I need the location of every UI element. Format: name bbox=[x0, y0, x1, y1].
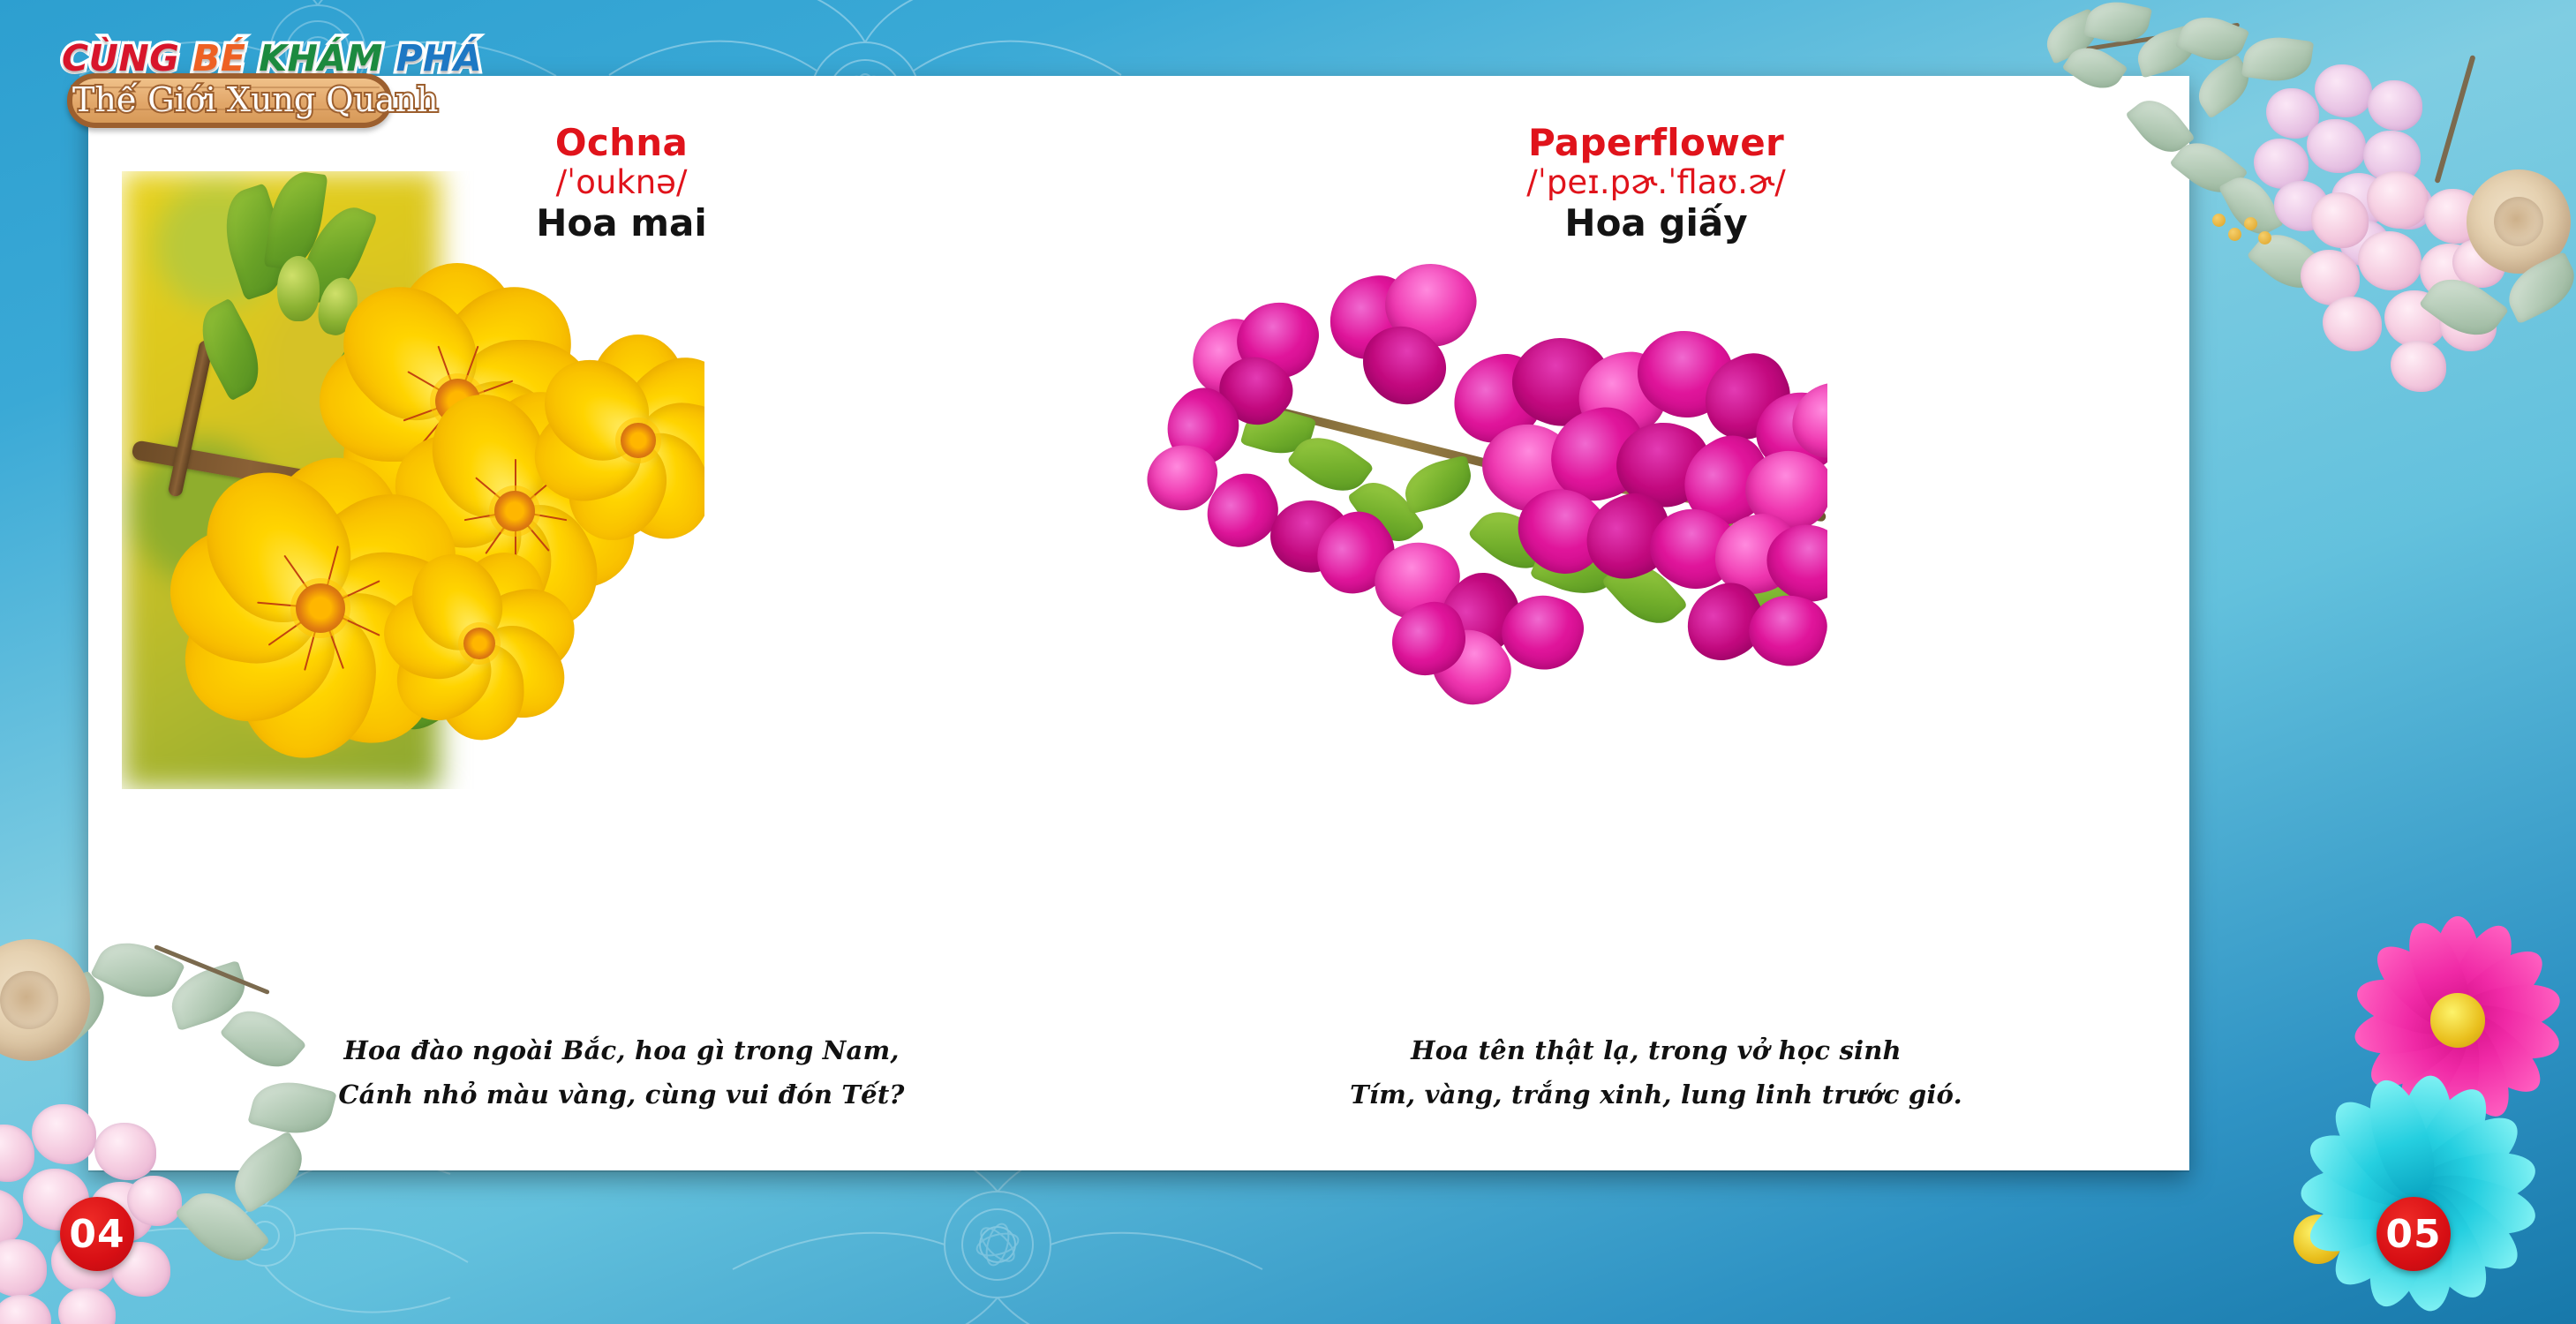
brand-word-cung: CÙNG bbox=[62, 41, 179, 77]
brand-word-pha: PHÁ bbox=[396, 41, 483, 77]
brand-logo: CÙNG BÉ KHÁM PHÁ Thế Giới Xung Quanh bbox=[62, 41, 433, 128]
flashcard-page: Ochna /ˈouknə/ Hoa mai bbox=[0, 0, 2576, 1324]
page-number-right: 05 bbox=[2376, 1197, 2451, 1271]
cream-rose bbox=[0, 939, 90, 1061]
photo-ochna bbox=[122, 171, 704, 789]
leaf bbox=[2083, 0, 2152, 49]
daisy-cyan bbox=[2301, 1075, 2537, 1312]
leaf bbox=[2132, 24, 2200, 78]
word-ipa-paperflower: /ˈpeɪ.pɚ.ˈflaʊ.ɚ/ bbox=[1139, 162, 2173, 202]
ochna-blossom bbox=[387, 551, 572, 736]
riddle-line-2: Tím, vàng, trắng xinh, lung linh trước g… bbox=[1139, 1072, 2173, 1117]
leaf bbox=[2039, 8, 2105, 64]
brand-title-line-2: Thế Giới Xung Quanh bbox=[72, 80, 387, 119]
content-card: Ochna /ˈouknə/ Hoa mai bbox=[88, 76, 2189, 1170]
berry bbox=[2228, 228, 2241, 241]
word-vietnamese-paperflower: Hoa giấy bbox=[1139, 202, 2173, 244]
flower-bud bbox=[277, 256, 320, 321]
berry bbox=[2212, 214, 2226, 227]
riddle-line-1: Hoa tên thật lạ, trong vở học sinh bbox=[1139, 1028, 2173, 1073]
riddle-paperflower: Hoa tên thật lạ, trong vở học sinh Tím, … bbox=[1139, 1028, 2173, 1118]
content-card-inner: Ochna /ˈouknə/ Hoa mai bbox=[104, 92, 2173, 1155]
twig bbox=[2434, 55, 2475, 184]
twig bbox=[2056, 23, 2240, 56]
brand-title-line-1: CÙNG BÉ KHÁM PHÁ bbox=[62, 41, 433, 77]
cream-rose bbox=[2467, 169, 2571, 274]
leaf bbox=[2499, 252, 2576, 325]
leaf bbox=[2247, 221, 2331, 301]
word-block-paperflower: Paperflower /ˈpeɪ.pɚ.ˈflaʊ.ɚ/ Hoa giấy bbox=[1139, 124, 2173, 245]
leaf bbox=[2241, 33, 2314, 86]
berry bbox=[2244, 217, 2257, 230]
brand-word-be: BÉ bbox=[192, 41, 245, 77]
word-ipa-ochna: /ˈouknə/ bbox=[104, 162, 1139, 202]
brand-word-kham: KHÁM bbox=[259, 41, 383, 77]
riddle-ochna: Hoa đào ngoài Bắc, hoa gì trong Nam, Cán… bbox=[104, 1028, 1139, 1118]
word-block-ochna: Ochna /ˈouknə/ Hoa mai bbox=[104, 124, 1139, 245]
leaf bbox=[175, 1177, 271, 1275]
flashcard-ochna: Ochna /ˈouknə/ Hoa mai bbox=[104, 92, 1139, 1155]
decor-bottom-right-daisies bbox=[2196, 909, 2576, 1324]
leaf bbox=[2188, 54, 2258, 118]
ochna-blossom bbox=[537, 339, 704, 542]
berry bbox=[2258, 231, 2271, 244]
page-number-left: 04 bbox=[60, 1197, 134, 1271]
word-vietnamese-ochna: Hoa mai bbox=[104, 202, 1139, 244]
daisy-magenta bbox=[2354, 916, 2562, 1125]
riddle-line-2: Cánh nhỏ màu vàng, cùng vui đón Tết? bbox=[104, 1072, 1139, 1117]
leaf bbox=[2175, 7, 2250, 70]
flashcard-paperflower: Paperflower /ˈpeɪ.pɚ.ˈflaʊ.ɚ/ Hoa giấy bbox=[1139, 92, 2173, 1155]
leaf bbox=[2419, 265, 2509, 350]
hydrangea-pink bbox=[2294, 159, 2514, 371]
hydrangea-lavender bbox=[2246, 53, 2449, 247]
riddle-line-1: Hoa đào ngoài Bắc, hoa gì trong Nam, bbox=[104, 1028, 1139, 1073]
leaf bbox=[2218, 168, 2284, 243]
brand-wooden-banner: Thế Giới Xung Quanh bbox=[67, 73, 392, 128]
word-english-paperflower: Paperflower bbox=[1139, 124, 2173, 162]
photo-paperflower bbox=[1139, 224, 1827, 718]
leaf bbox=[1399, 455, 1477, 514]
word-english-ochna: Ochna bbox=[104, 124, 1139, 162]
